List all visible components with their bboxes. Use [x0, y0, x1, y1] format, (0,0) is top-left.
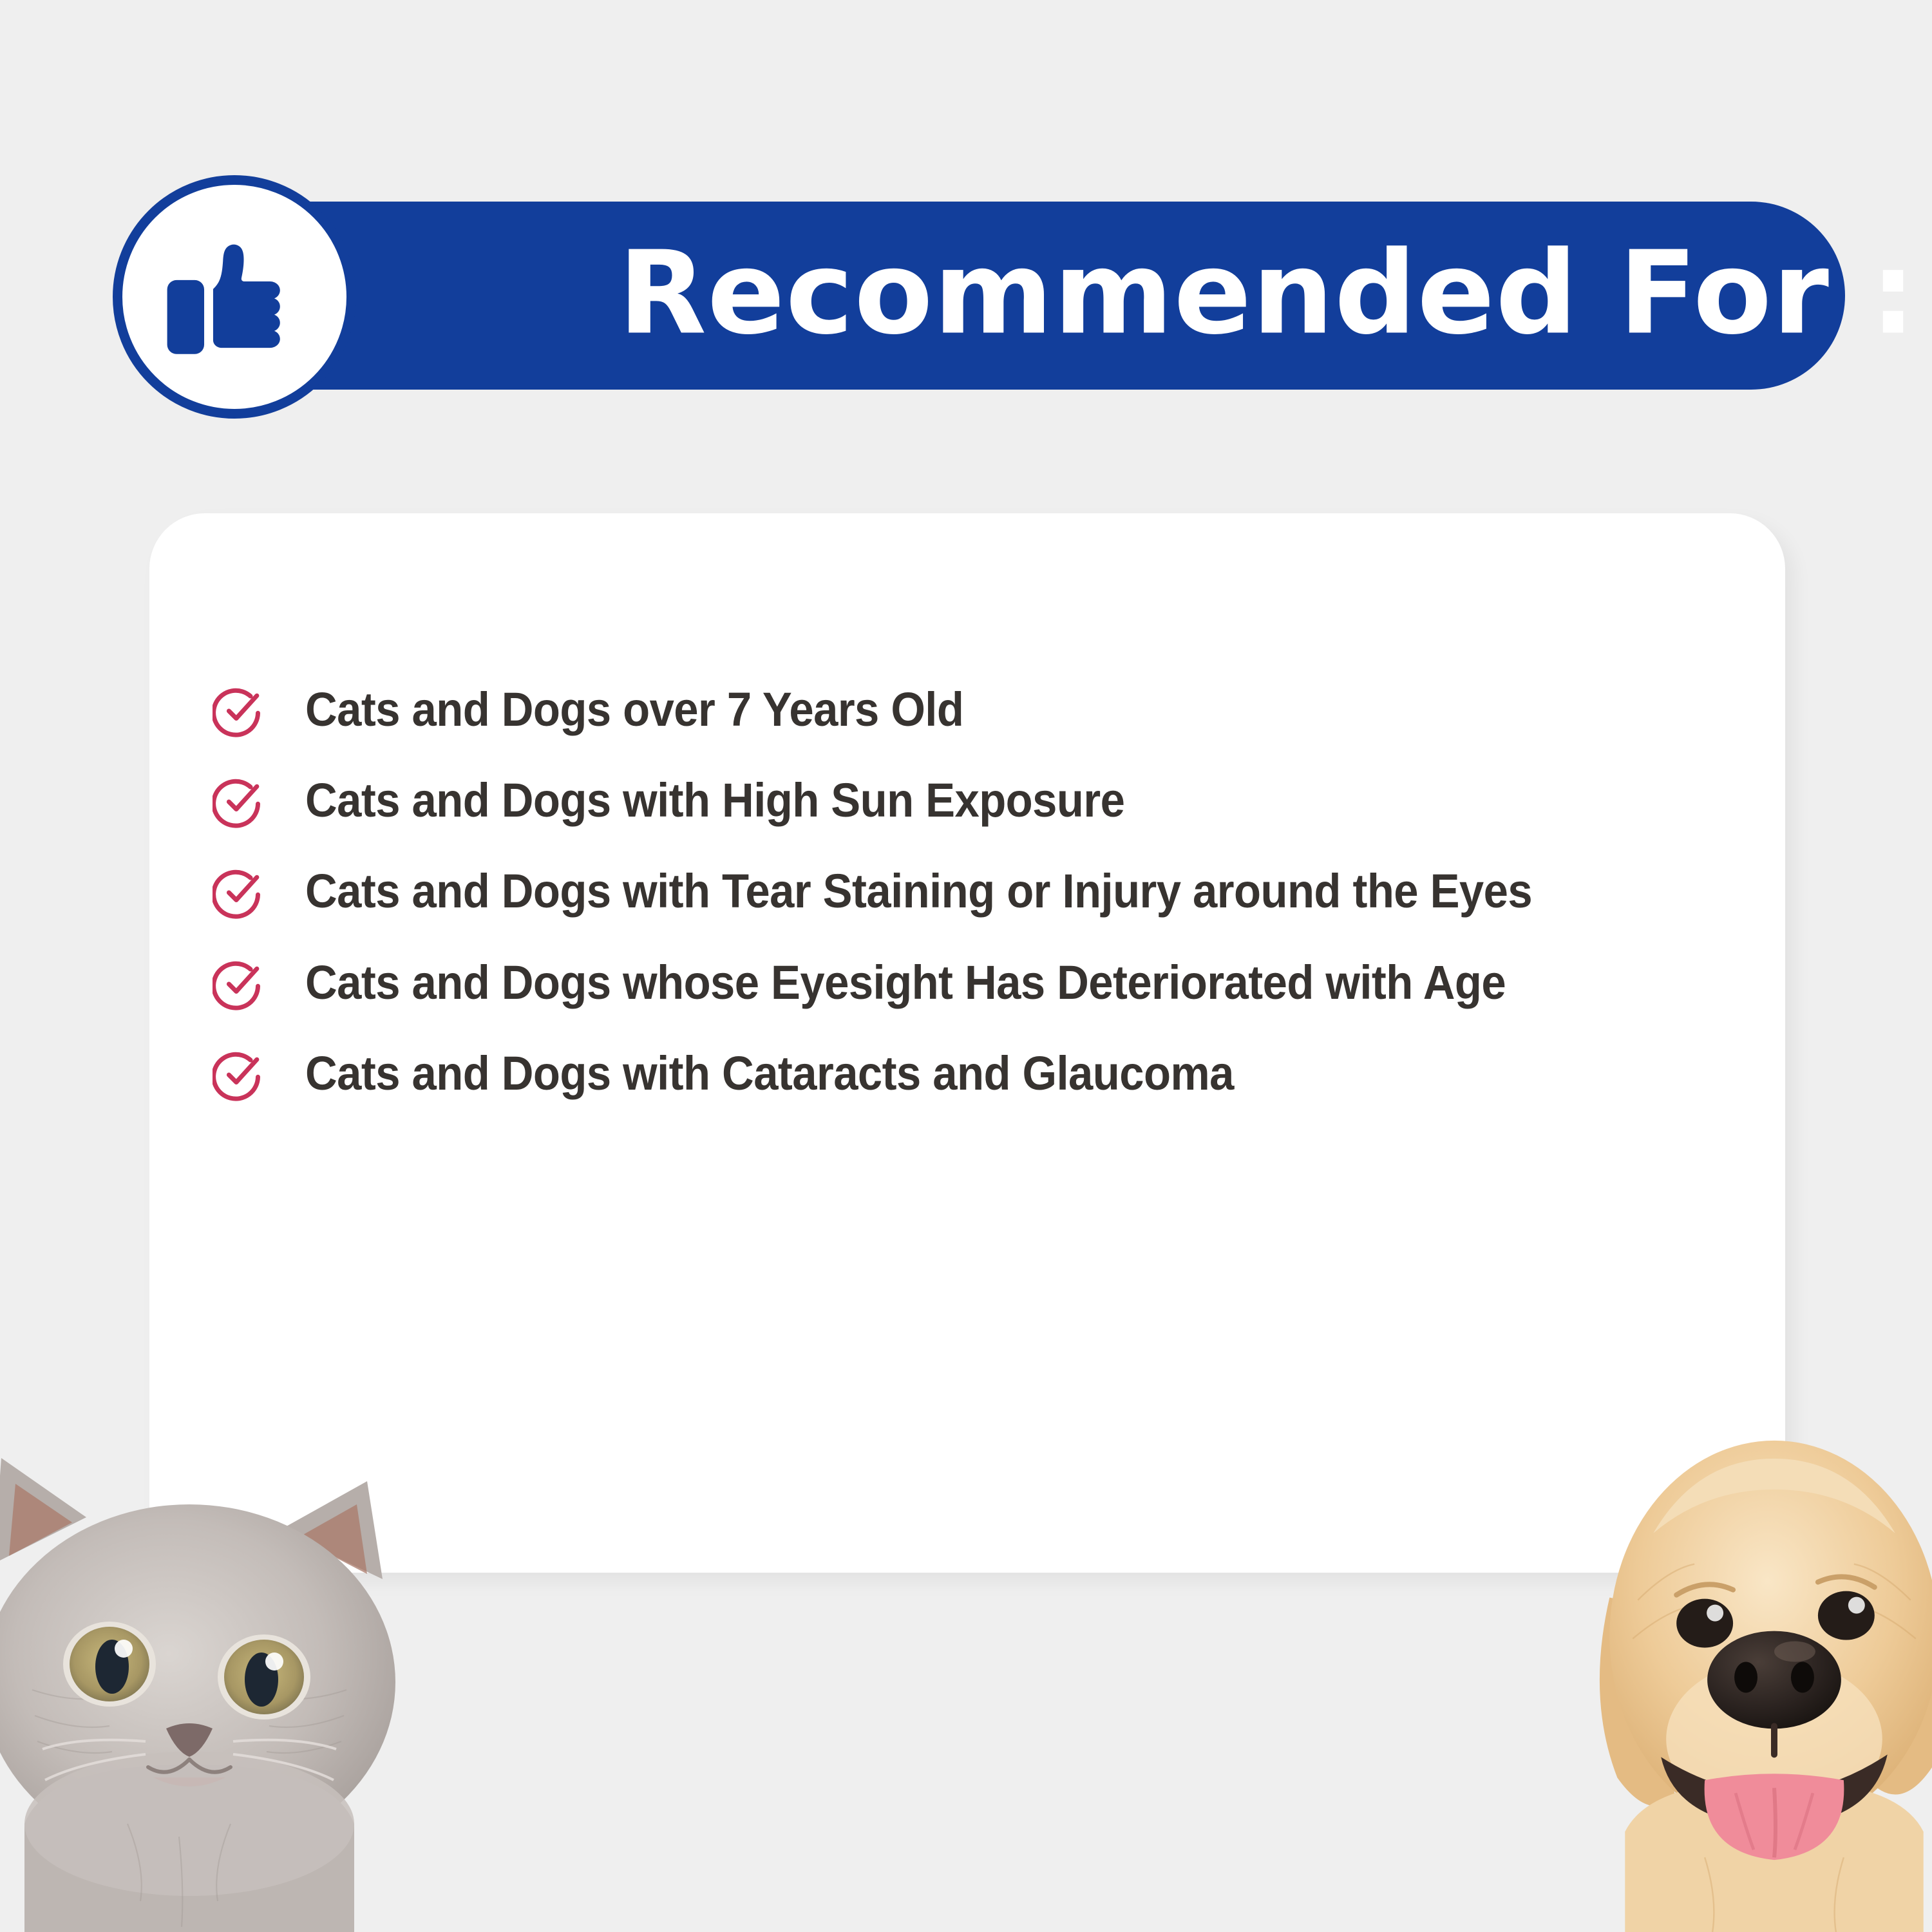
- recommendation-list: Cats and Dogs over 7 Years Old Cats and …: [213, 679, 1739, 1103]
- golden-retriever-puppy-photo: [1581, 1407, 1932, 1932]
- check-circle-icon: [213, 685, 265, 737]
- list-item-label: Cats and Dogs over 7 Years Old: [305, 679, 963, 739]
- grey-kitten-photo: [0, 1437, 411, 1932]
- check-circle-icon: [213, 775, 265, 828]
- page-title: Recommended For :: [618, 236, 1917, 350]
- check-circle-icon: [213, 866, 265, 919]
- check-circle-icon: [213, 958, 265, 1010]
- list-item-label: Cats and Dogs whose Eyesight Has Deterio…: [305, 952, 1506, 1012]
- list-item: Cats and Dogs over 7 Years Old: [213, 679, 1739, 739]
- header-banner: Recommended For :: [213, 202, 1845, 390]
- recommendation-card: Cats and Dogs over 7 Years Old Cats and …: [149, 513, 1785, 1573]
- list-item: Cats and Dogs with Cataracts and Glaucom…: [213, 1043, 1739, 1103]
- list-item-label: Cats and Dogs with Cataracts and Glaucom…: [305, 1043, 1234, 1103]
- list-item: Cats and Dogs with High Sun Exposure: [213, 770, 1739, 830]
- list-item: Cats and Dogs whose Eyesight Has Deterio…: [213, 952, 1739, 1012]
- check-circle-icon: [213, 1048, 265, 1101]
- list-item-label: Cats and Dogs with Tear Staining or Inju…: [305, 861, 1532, 921]
- list-item: Cats and Dogs with Tear Staining or Inju…: [213, 861, 1739, 921]
- infographic-canvas: Recommended For : Cats and Dogs over 7 Y…: [0, 0, 1932, 1932]
- thumbs-up-icon: [113, 175, 356, 419]
- list-item-label: Cats and Dogs with High Sun Exposure: [305, 770, 1124, 830]
